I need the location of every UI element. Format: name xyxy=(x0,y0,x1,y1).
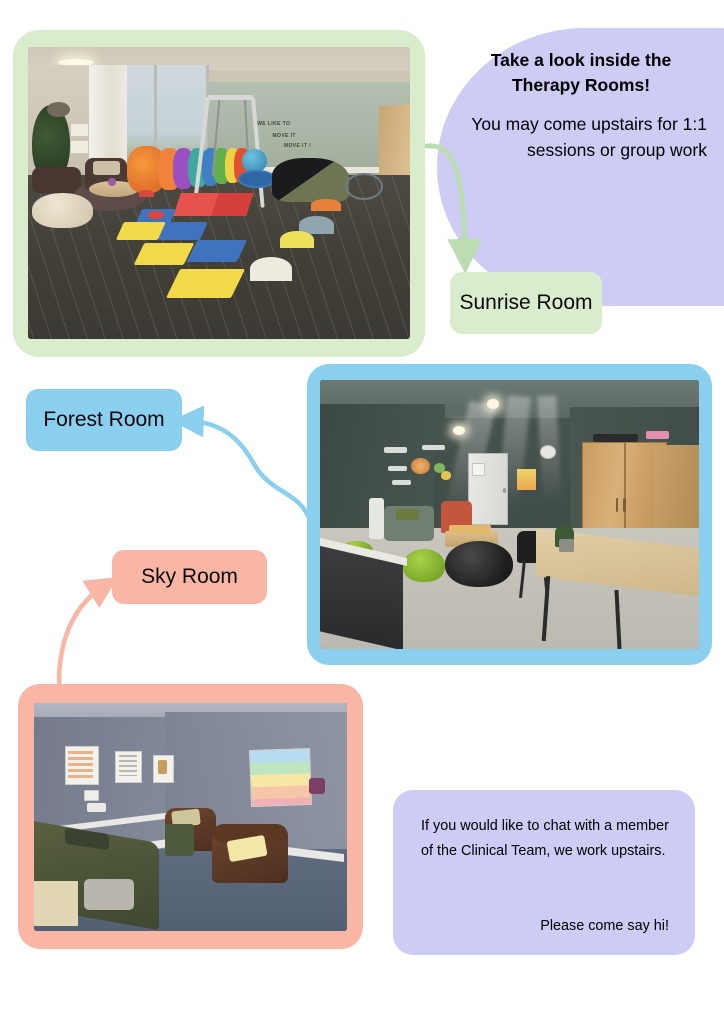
photo-sky xyxy=(34,703,347,931)
crash-mat-red xyxy=(173,193,253,216)
emotion-chart-poster xyxy=(249,748,312,807)
intro-heading-line-1: Take a look inside the xyxy=(455,48,707,73)
photo-frame-sky xyxy=(18,684,363,949)
photo-frame-sunrise: WE LIKE TO MOVE IT MOVE IT ! xyxy=(13,30,425,357)
bean-bag-green xyxy=(403,549,445,581)
den-blanket xyxy=(272,158,348,202)
intro-heading-line-2: Therapy Rooms! xyxy=(455,73,707,98)
wall-decal xyxy=(441,471,451,479)
hoop xyxy=(345,173,383,200)
wall-word-label xyxy=(422,445,445,450)
cushion-green xyxy=(396,509,419,520)
bean-bag-cream xyxy=(32,193,93,228)
wall-word-label xyxy=(384,447,407,452)
wall-word-label xyxy=(388,466,407,471)
ceiling-downlight xyxy=(453,426,465,436)
wall-pocket xyxy=(309,778,325,794)
poster-canvas: Take a look inside the Therapy Rooms! Yo… xyxy=(0,0,724,1024)
balance-pod-yellow xyxy=(280,231,314,249)
door-notice xyxy=(472,463,485,476)
wall-decal xyxy=(411,458,430,474)
wall-clock xyxy=(47,102,70,117)
balance-pod-orange xyxy=(311,199,342,211)
swing-top-bar xyxy=(208,95,254,100)
clinical-team-note-body: If you would like to chat with a member … xyxy=(421,814,669,864)
photo-sunrise: WE LIKE TO MOVE IT MOVE IT ! xyxy=(28,47,410,339)
throw-green xyxy=(165,824,193,856)
green-arrow-to-sunrise xyxy=(425,140,515,280)
table-object xyxy=(108,178,116,185)
wall-text-line-3: MOVE IT ! xyxy=(284,143,311,149)
wall-word-label xyxy=(392,480,411,485)
forest-room-image xyxy=(320,380,699,649)
photo-frame-forest xyxy=(307,364,712,665)
sofa xyxy=(32,167,82,193)
throw-blanket xyxy=(84,879,134,911)
poster-content xyxy=(158,760,167,774)
wall-picture xyxy=(70,123,89,137)
floor-tile-yellow xyxy=(133,243,193,265)
label-forest-room[interactable]: Forest Room xyxy=(26,389,182,451)
bean-bag-black xyxy=(445,541,513,587)
cushion xyxy=(93,161,120,176)
board-leaning xyxy=(34,881,78,927)
wall-text-line-2: MOVE IT xyxy=(272,133,295,139)
table-items xyxy=(449,525,491,533)
floor-tile-blue xyxy=(158,222,208,240)
wall-poster xyxy=(517,469,536,491)
floor-tile-dot xyxy=(148,211,163,220)
sunrise-room-image: WE LIKE TO MOVE IT MOVE IT ! xyxy=(28,47,410,339)
ceiling-downlight xyxy=(487,399,499,409)
label-sunrise-room[interactable]: Sunrise Room xyxy=(450,272,602,334)
wall-clock xyxy=(540,445,556,459)
label-sky-room[interactable]: Sky Room xyxy=(112,550,267,604)
light-switch xyxy=(84,790,99,801)
heater xyxy=(369,498,384,538)
photo-forest xyxy=(320,380,699,649)
balance-pod-cream xyxy=(250,257,292,280)
intro-heading: Take a look inside the Therapy Rooms! xyxy=(455,48,707,99)
poster-content xyxy=(68,751,93,778)
poster-content xyxy=(119,755,138,776)
blue-arrow-to-forest xyxy=(176,404,316,529)
cabinet-handle xyxy=(623,498,626,511)
cabinet-handle xyxy=(616,498,619,511)
wall-picture xyxy=(70,140,89,154)
plant-pot xyxy=(559,539,574,552)
sky-room-image xyxy=(34,703,347,931)
wall-text-line-1: WE LIKE TO xyxy=(257,121,290,127)
box-on-cabinet xyxy=(593,434,638,442)
balance-pod-small xyxy=(139,190,154,197)
box-on-cabinet xyxy=(646,431,669,439)
wall-fitting xyxy=(87,803,106,812)
clinical-team-note-signoff: Please come say hi! xyxy=(421,915,669,938)
